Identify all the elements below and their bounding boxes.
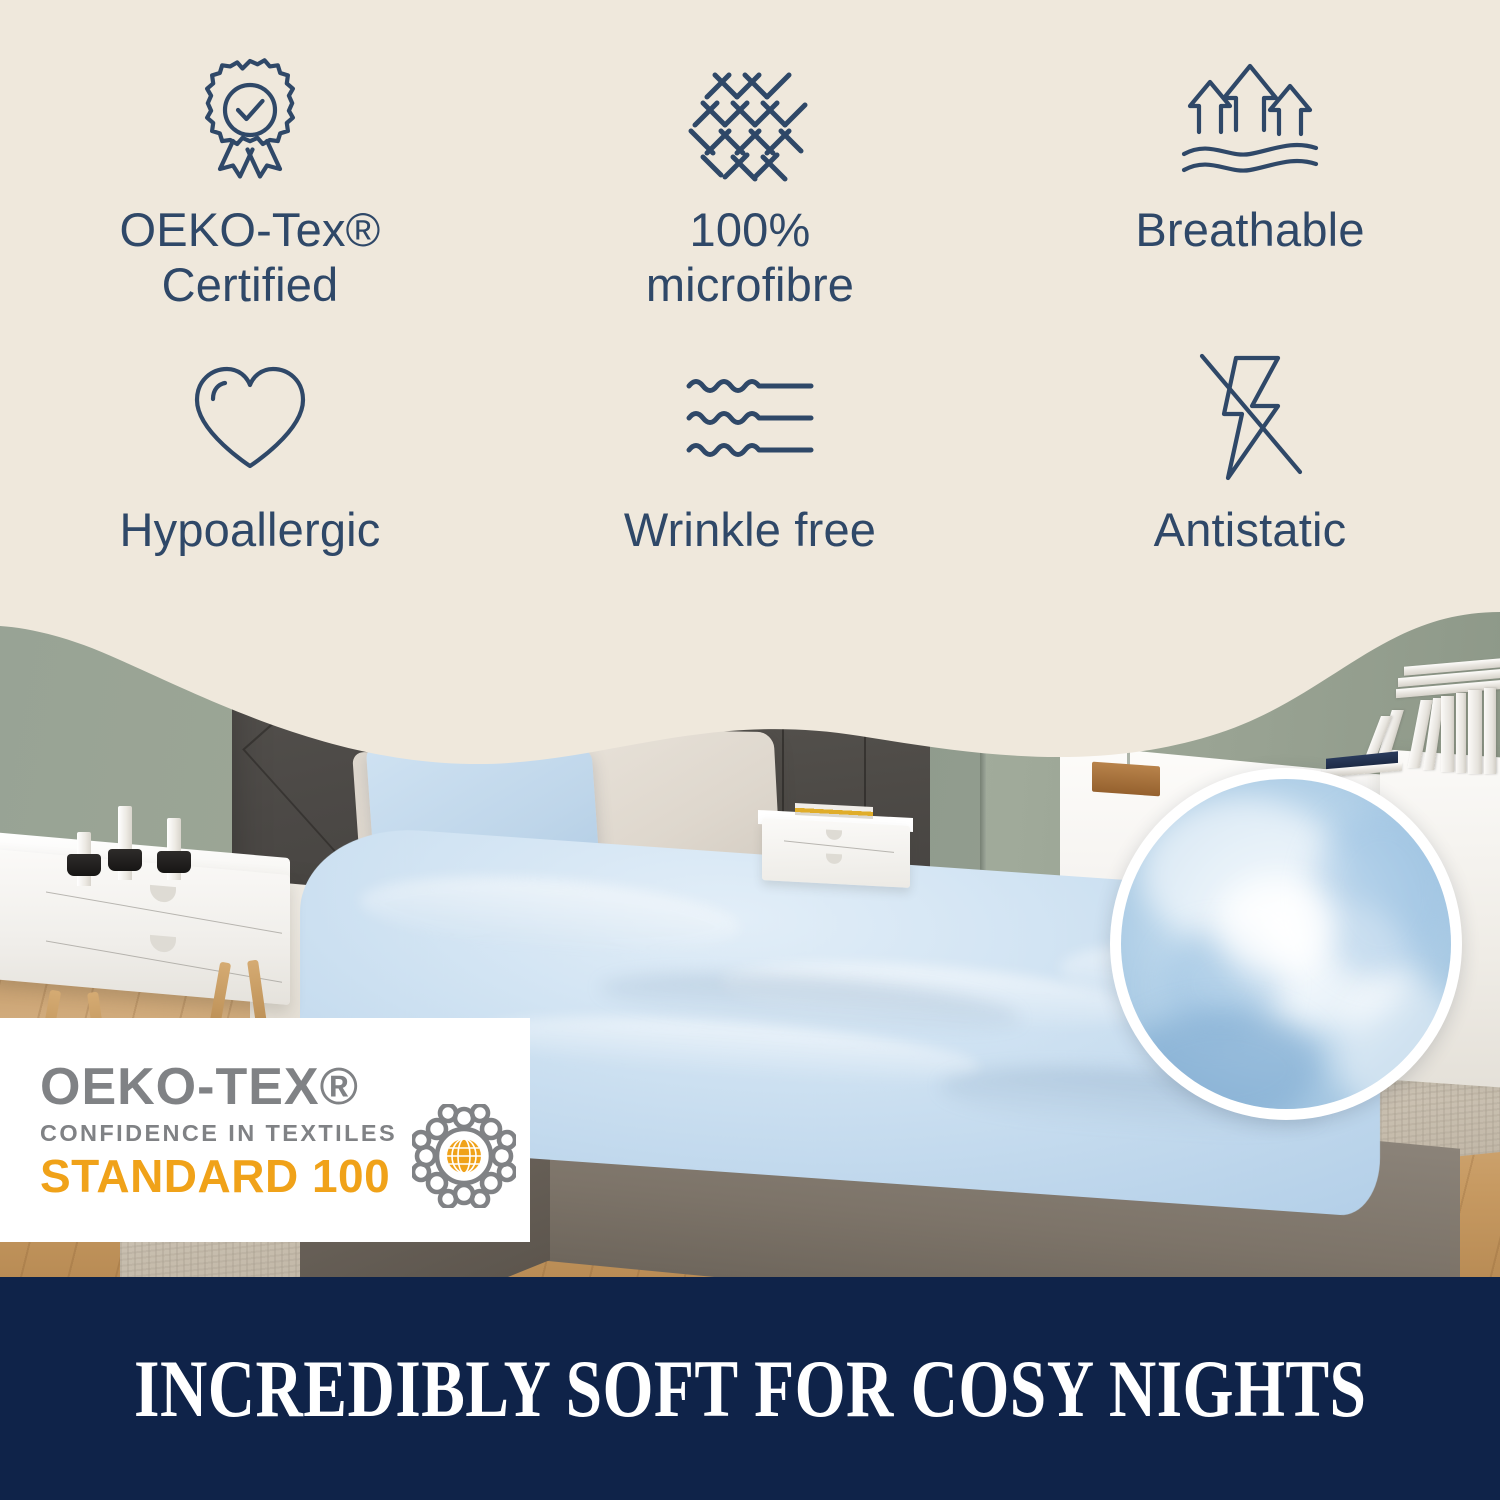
lamp-wood-base — [1092, 762, 1160, 797]
candle-holder — [67, 854, 101, 876]
lightning-bolt-crossed-icon — [1192, 348, 1308, 488]
feature-antistatic: Antistatic — [1000, 330, 1500, 585]
fabric-closeup-swatch — [1110, 768, 1462, 1120]
feature-microfibre: 100% microfibre — [500, 0, 1000, 330]
feature-label: OEKO-Tex® Certified — [119, 202, 380, 313]
wavy-to-straight-lines-icon — [685, 348, 815, 488]
feature-oeko-tex-certified: OEKO-Tex® Certified — [0, 0, 500, 330]
banner-headline: INCREDIBLY SOFT FOR COSY NIGHTS — [134, 1342, 1366, 1436]
heart-icon — [189, 348, 311, 488]
feature-label: Breathable — [1135, 202, 1364, 257]
airflow-arrows-icon — [1180, 48, 1320, 188]
product-feature-graphic: OEKO-Tex® Certified — [0, 0, 1500, 1500]
feature-breathable: Breathable — [1000, 0, 1500, 330]
bottom-banner: INCREDIBLY SOFT FOR COSY NIGHTS — [0, 1277, 1500, 1500]
feature-grid: OEKO-Tex® Certified — [0, 0, 1500, 615]
feature-label: Antistatic — [1154, 502, 1347, 557]
candle-holder — [157, 851, 191, 873]
nightstand-left — [0, 849, 290, 1005]
feature-label: 100% microfibre — [646, 202, 854, 313]
feature-wrinkle-free: Wrinkle free — [500, 330, 1000, 585]
oeko-tex-globe-knot-logo — [412, 1104, 516, 1213]
candle-holder — [108, 849, 142, 871]
feature-label: Wrinkle free — [624, 502, 876, 557]
oeko-tex-standard-100-badge: OEKO-TEX® CONFIDENCE IN TEXTILES STANDAR… — [0, 1018, 530, 1242]
nightstand-right — [762, 818, 910, 888]
woven-fabric-weave-icon — [685, 48, 815, 188]
award-ribbon-check-icon — [194, 48, 306, 188]
feature-hypoallergic: Hypoallergic — [0, 330, 500, 585]
feature-label: Hypoallergic — [119, 502, 380, 557]
fabric-swatch-image — [1121, 779, 1451, 1109]
